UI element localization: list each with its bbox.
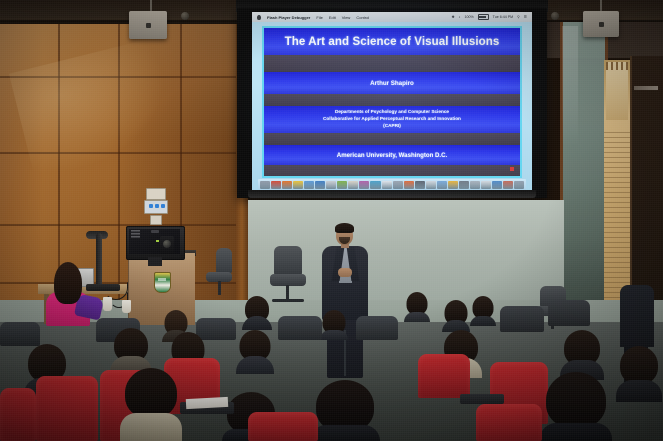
monitor-badge: [131, 230, 140, 238]
shoulders: [320, 330, 348, 340]
dock-icon-20[interactable]: [481, 181, 491, 189]
university-crest: [154, 272, 171, 293]
slide-affiliation-band: Departments of Psychology and Computer S…: [264, 106, 520, 133]
battery-percent: 100%: [464, 15, 473, 19]
menu-control[interactable]: Control: [356, 15, 369, 20]
dock-icon-4[interactable]: [304, 181, 314, 189]
shoulders: [470, 316, 496, 326]
glasses-icon: [337, 231, 352, 235]
dock-icon-17[interactable]: [448, 181, 458, 189]
camera-led: [156, 240, 159, 242]
ceiling-speaker-right: [583, 11, 619, 37]
audience-member: [442, 300, 470, 332]
wall-outlet-plate: [150, 215, 162, 225]
slide-band-spacer-2: [264, 94, 520, 106]
head: [620, 346, 658, 384]
audience-member: [236, 330, 274, 374]
monitor-stand: [148, 257, 162, 266]
battery-icon[interactable]: [478, 14, 489, 20]
office-chair-back-2[interactable]: [274, 246, 302, 276]
office-chair-post-1: [218, 281, 221, 295]
auditorium-chair[interactable]: [548, 300, 590, 326]
slide-band-spacer-4: [264, 165, 520, 178]
audience-member: [616, 346, 662, 402]
projection-screen-bottom-bar: [248, 190, 536, 198]
dock-icon-22[interactable]: [503, 181, 513, 189]
dock-icon-23[interactable]: [514, 181, 524, 189]
speaker-hands: [338, 268, 352, 277]
head: [125, 368, 177, 418]
control-panel-led-1: [149, 204, 153, 208]
menu-bar-clock[interactable]: Tue 6:44 PM: [493, 15, 513, 19]
slide-institution: American University, Washington D.C.: [337, 152, 447, 159]
dark-door[interactable]: [630, 56, 663, 318]
ceiling-dome-sensor-left: [181, 12, 189, 20]
dock-icon-6[interactable]: [326, 181, 336, 189]
audience-member: [470, 296, 496, 326]
av-operator-head: [54, 262, 82, 304]
auditorium-chair[interactable]: [500, 306, 544, 332]
menu-bar-status-area: ✺ ♪ 100% Tue 6:44 PM ⚲ ☰: [452, 14, 527, 20]
ceiling-speaker-left: [129, 11, 167, 39]
audience-member: [242, 296, 272, 330]
dock-icon-14[interactable]: [415, 181, 425, 189]
monitor-logo: [151, 230, 159, 233]
speaker-port: [599, 22, 604, 27]
mac-dock[interactable]: [258, 179, 526, 190]
head: [546, 372, 606, 428]
coffee-cup-1: [103, 297, 112, 311]
document-camera-arm: [96, 233, 102, 287]
dock-icon-19[interactable]: [470, 181, 480, 189]
menu-file[interactable]: File: [316, 15, 322, 20]
shoulders: [616, 380, 662, 402]
dock-icon-11[interactable]: [382, 181, 392, 189]
control-panel-led-2: [155, 204, 159, 208]
slide-author-band: Arthur Shapiro: [264, 72, 520, 94]
lecture-hall-photo: Flash Player Debugger File Edit View Con…: [0, 0, 663, 441]
camera-lens-icon: [163, 240, 171, 248]
shoulders: [540, 423, 612, 441]
auditorium-chair[interactable]: [278, 316, 322, 340]
dock-icon-3[interactable]: [293, 181, 303, 189]
apple-icon[interactable]: [257, 15, 261, 20]
presentation-slide[interactable]: The Art and Science of Visual Illusions …: [262, 26, 522, 178]
shoulders: [404, 312, 430, 322]
search-icon[interactable]: ⚲: [517, 15, 520, 19]
dock-icon-8[interactable]: [348, 181, 358, 189]
dock-icon-21[interactable]: [492, 181, 502, 189]
shoulders: [242, 316, 272, 330]
dock-icon-16[interactable]: [437, 181, 447, 189]
dock-icon-13[interactable]: [404, 181, 414, 189]
bluetooth-icon[interactable]: ✺: [452, 15, 455, 19]
alcove-vent: [606, 62, 628, 70]
wood-paneled-wall: [0, 24, 240, 324]
auditorium-chair[interactable]: [0, 322, 40, 346]
auditorium-seat[interactable]: [476, 404, 542, 441]
office-chair-back-1[interactable]: [216, 248, 232, 274]
dock-icon-10[interactable]: [370, 181, 380, 189]
auditorium-seat[interactable]: [36, 376, 98, 441]
speaker-port: [146, 23, 151, 28]
shoulders: [236, 356, 274, 374]
projection-screen-surface: Flash Player Debugger File Edit View Con…: [252, 12, 532, 192]
slide-band-spacer-1: [264, 55, 520, 72]
wall-sign-panel: [146, 188, 166, 200]
menu-view[interactable]: View: [342, 15, 351, 20]
dock-icon-0[interactable]: [260, 181, 270, 189]
auditorium-seat[interactable]: [0, 388, 36, 441]
slide-band-spacer-3: [264, 133, 520, 145]
dock-icon-7[interactable]: [337, 181, 347, 189]
slide-institution-band: American University, Washington D.C.: [264, 145, 520, 165]
auditorium-chair[interactable]: [356, 316, 398, 340]
volume-icon[interactable]: ♪: [459, 15, 461, 19]
coffee-cup-2: [122, 300, 131, 313]
auditorium-seat[interactable]: [248, 412, 318, 441]
mac-menu-bar[interactable]: Flash Player Debugger File Edit View Con…: [252, 12, 532, 22]
office-chair-base-2: [272, 299, 304, 302]
menu-app-name[interactable]: Flash Player Debugger: [267, 15, 310, 20]
control-panel-led-3: [161, 204, 165, 208]
audience-member: [540, 372, 612, 441]
standing-attendee-torso: [620, 285, 654, 347]
slide-author: Arthur Shapiro: [370, 80, 414, 87]
dock-icon-15[interactable]: [426, 181, 436, 189]
dock-icon-18[interactable]: [459, 181, 469, 189]
slide-affiliation-line2: Collaborative for Applied Perceptual Res…: [319, 116, 465, 123]
shoulders: [120, 413, 182, 441]
slide-title: The Art and Science of Visual Illusions: [285, 36, 500, 48]
chair-tablet-arm[interactable]: [460, 394, 504, 404]
glass-reflection: [562, 26, 578, 146]
audience-member: [310, 380, 380, 441]
dock-icon-9[interactable]: [359, 181, 369, 189]
slide-title-band: The Art and Science of Visual Illusions: [264, 28, 520, 55]
menu-extra-icon[interactable]: ☰: [524, 15, 527, 19]
alcove-light: [606, 62, 628, 120]
audience-member: [320, 310, 348, 340]
projected-desktop: Flash Player Debugger File Edit View Con…: [252, 12, 532, 192]
wall-control-panel[interactable]: [144, 200, 168, 214]
dock-icon-5[interactable]: [315, 181, 325, 189]
audience-member: [404, 292, 430, 322]
ceiling-dome-sensor-right: [551, 12, 559, 20]
dock-icon-12[interactable]: [393, 181, 403, 189]
dock-icon-2[interactable]: [282, 181, 292, 189]
door-handle[interactable]: [634, 86, 658, 90]
audience-member: [120, 368, 182, 441]
menu-edit[interactable]: Edit: [329, 15, 336, 20]
slide-affiliation-line3: (CAPRI): [379, 123, 405, 130]
auditorium-seat[interactable]: [418, 354, 470, 398]
dock-icon-1[interactable]: [271, 181, 281, 189]
shoulders: [310, 425, 380, 441]
slide-corner-marker: [510, 167, 514, 171]
